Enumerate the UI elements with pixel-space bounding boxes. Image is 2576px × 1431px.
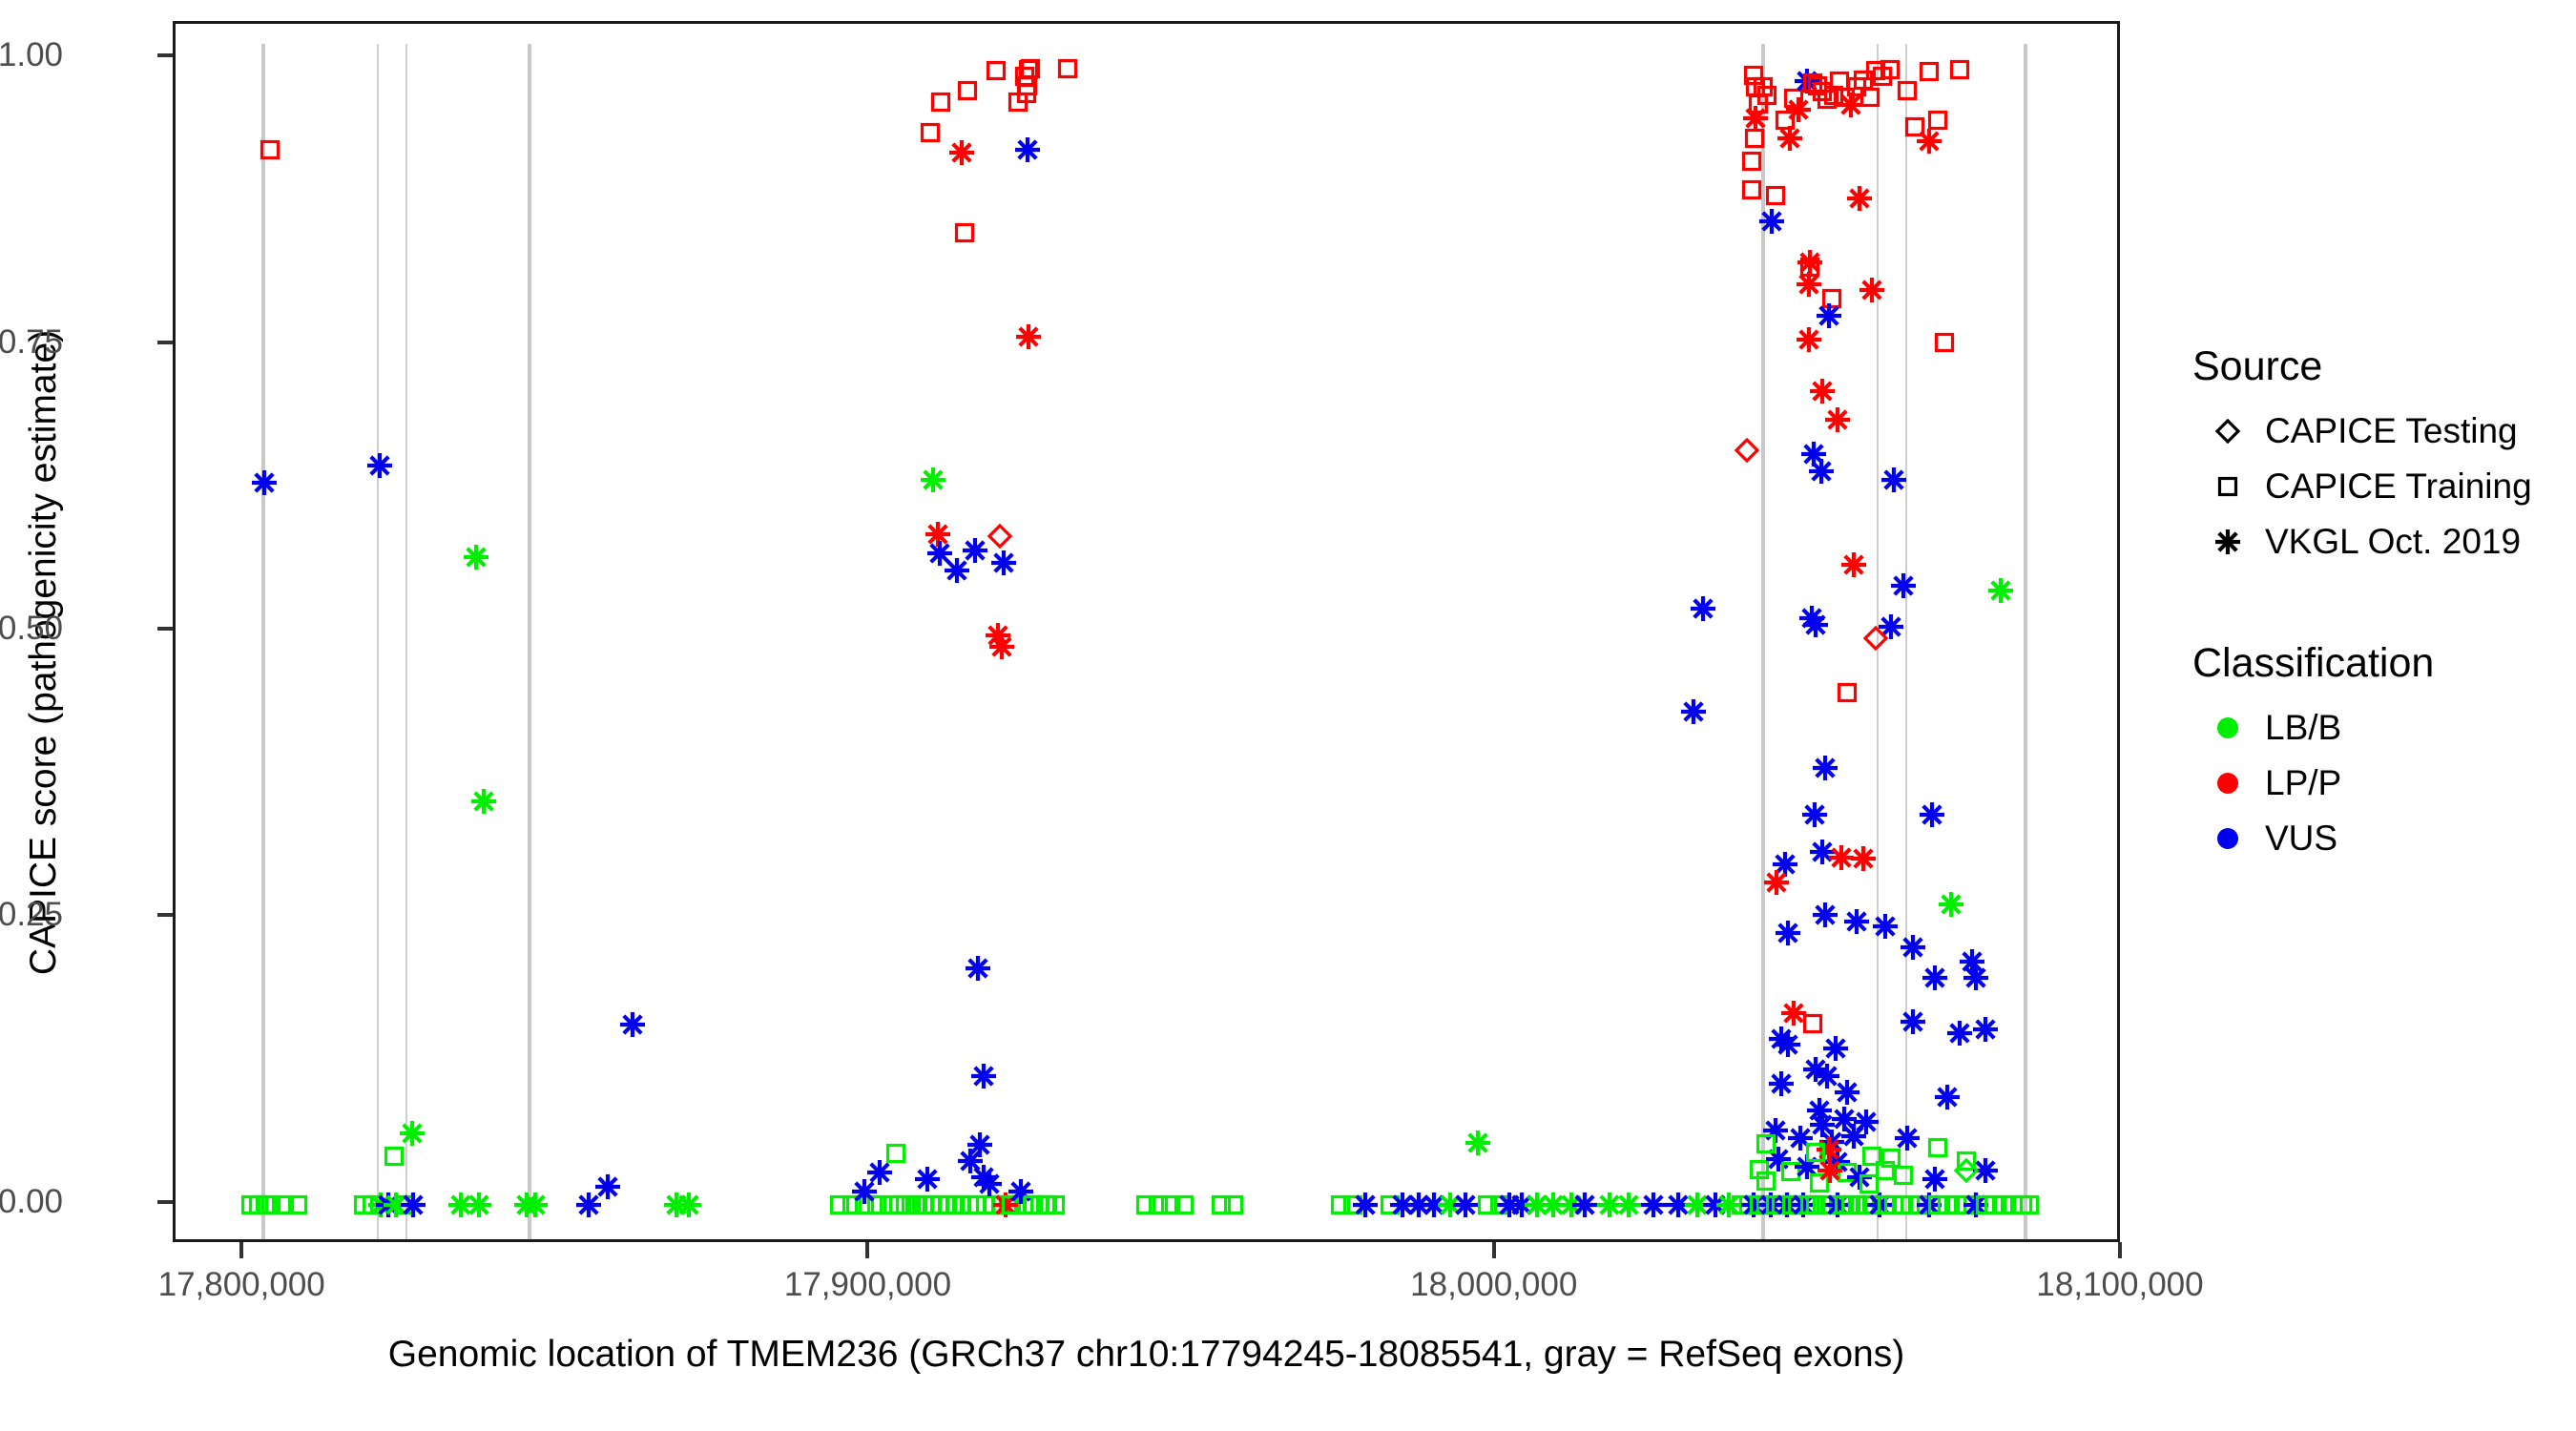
legend-title-source: Source [2192,343,2553,390]
data-point [1812,755,1839,781]
y-tick-label: 0.25 [0,896,63,934]
data-point [399,1120,426,1147]
data-point [594,1173,621,1200]
data-point [1775,1031,1801,1058]
y-tick-mark [157,1200,173,1204]
data-point [1963,964,1989,991]
data-point [1019,57,1042,80]
data-point [1922,964,1948,991]
data-point [1809,378,1836,404]
data-point [1740,150,1763,173]
legend-item-source-1[interactable]: CAPICE Training [2191,459,2553,514]
data-point [1953,1157,1980,1184]
data-point [463,544,489,570]
data-point [1880,1147,1902,1170]
data-point [286,1193,309,1216]
capice-scatter-figure: CAPICE score (pathogenicity estimate) 0.… [0,0,2576,1431]
data-point [1014,136,1041,163]
data-point [920,467,946,493]
data-point [470,788,497,815]
data-point [1934,1084,1961,1110]
data-point [1900,934,1926,961]
data-point [1859,86,1881,109]
y-tick-label: 0.00 [0,1183,63,1221]
data-point [1056,57,1079,80]
data-point [466,1192,492,1218]
data-point [1926,1136,1949,1159]
legend-group-classification: LB/BLP/PVUS [2191,700,2553,866]
legend-label: LB/B [2265,708,2341,748]
legend-item-classification-1[interactable]: LP/P [2191,756,2553,811]
data-point [1972,1016,1999,1043]
data-point [948,139,975,166]
refseq-exon-marker [405,44,407,1239]
data-point [400,1192,426,1218]
data-point [988,633,1015,660]
data-point [1880,467,1907,493]
data-point [1812,902,1839,928]
data-point [1896,79,1919,102]
data-point [1918,60,1941,83]
data-point [1764,184,1787,207]
data-point [1758,208,1785,235]
data-point [1690,595,1716,622]
x-tick-mark [2118,1242,2122,1258]
data-point [987,523,1013,550]
legend-item-source-0[interactable]: CAPICE Testing [2191,404,2553,459]
x-tick-label: 17,900,000 [784,1266,951,1304]
data-point [1680,698,1707,725]
legend-spacer [2191,570,2553,640]
plot-panel [173,21,2120,1242]
plot-area [176,24,2117,1239]
refseq-exon-marker [377,44,379,1239]
dot-icon [2191,769,2265,798]
data-point [1919,801,1945,828]
data-point [1796,271,1822,298]
legend: Source CAPICE TestingCAPICE TrainingVKGL… [2191,343,2553,866]
data-point [1834,1079,1860,1106]
x-axis-title: Genomic location of TMEM236 (GRCh37 chr1… [173,1334,2120,1376]
data-point [962,537,988,564]
data-point [1796,326,1822,353]
legend-item-source-2[interactable]: VKGL Oct. 2019 [2191,514,2553,570]
data-point [1843,908,1870,935]
refseq-exon-marker [1905,44,1907,1239]
data-point [1743,127,1766,150]
legend-label: CAPICE Training [2265,467,2532,507]
data-point [1946,1020,1973,1047]
legend-label: CAPICE Testing [2265,411,2518,451]
data-point [1222,1193,1245,1216]
data-point [1808,458,1835,485]
data-point [929,91,952,114]
data-point [1948,58,1971,81]
legend-title-classification: Classification [2192,640,2553,687]
data-point [1640,1192,1667,1218]
data-point [1785,96,1812,123]
data-point [1768,1070,1795,1097]
data-point [1824,406,1851,433]
data-point [1755,1132,1777,1155]
data-point [985,59,1008,82]
y-tick-label: 0.50 [0,610,63,648]
data-point [965,955,991,982]
y-tick-label: 1.00 [0,36,63,74]
data-point [1352,1192,1379,1218]
data-point [1933,331,1956,354]
data-point [1015,82,1038,105]
data-point [1890,572,1917,599]
y-tick-label: 0.75 [0,323,63,362]
data-point [1846,185,1873,212]
data-point [1900,1008,1926,1035]
y-tick-mark [157,53,173,57]
data-point [1034,1193,1057,1216]
square-icon [2191,475,2265,498]
data-point [919,121,942,144]
dot-icon [2191,714,2265,742]
data-point [366,452,393,479]
data-point [1452,1192,1479,1218]
data-point [1872,913,1899,940]
data-point [522,1192,549,1218]
data-point [1763,869,1790,896]
x-tick-mark [865,1242,869,1258]
y-tick-mark [157,341,173,344]
data-point [1740,178,1763,201]
data-point [1615,1192,1642,1218]
refseq-exon-marker [528,44,531,1239]
data-point [1922,1166,1948,1192]
data-point [1879,58,1901,81]
data-point [884,1142,907,1165]
data-point [914,1166,941,1192]
data-point [383,1145,405,1168]
x-tick-label: 17,800,000 [158,1266,325,1304]
legend-label: LP/P [2265,763,2341,803]
data-point [1734,437,1760,464]
data-point [1840,551,1867,578]
x-tick-mark [239,1242,243,1258]
data-point [1862,625,1889,652]
x-tick-mark [1492,1242,1496,1258]
data-point [1801,1012,1824,1035]
legend-item-classification-0[interactable]: LB/B [2191,700,2553,756]
data-point [2018,1193,2041,1216]
legend-label: VKGL Oct. 2019 [2265,522,2521,562]
data-point [1802,612,1829,638]
data-point [259,138,281,161]
legend-group-source: CAPICE TestingCAPICE TrainingVKGL Oct. 2… [2191,404,2553,570]
data-point [1816,302,1842,329]
data-point [251,469,278,496]
y-tick-mark [157,913,173,917]
data-point [1916,128,1942,155]
data-point [1859,277,1885,303]
x-tick-label: 18,000,000 [1410,1266,1577,1304]
diamond-icon [2191,418,2265,445]
data-point [1776,125,1803,152]
legend-item-classification-2[interactable]: VUS [2191,811,2553,866]
y-tick-mark [157,627,173,631]
data-point [675,1192,702,1218]
data-point [1850,845,1877,872]
data-point [1804,1141,1827,1164]
data-point [1173,1193,1195,1216]
legend-label: VUS [2265,819,2337,859]
data-point [990,550,1017,576]
data-point [970,1063,997,1089]
data-point [966,1131,993,1158]
data-point [619,1011,646,1038]
data-point [1015,323,1042,350]
refseq-exon-marker [261,44,265,1239]
data-point [1938,891,1964,918]
data-point [1775,920,1801,946]
data-point [1801,801,1828,828]
asterisk-icon [2191,529,2265,555]
data-point [1465,1130,1491,1156]
data-point [953,221,976,244]
x-tick-label: 18,100,000 [2036,1266,2203,1304]
dot-icon [2191,824,2265,853]
data-point [1836,681,1859,704]
refseq-exon-marker [2024,44,2027,1239]
data-point [1755,1170,1777,1192]
data-point [1755,84,1778,107]
data-point [1571,1192,1598,1218]
data-point [1987,577,2014,604]
data-point [956,79,979,102]
